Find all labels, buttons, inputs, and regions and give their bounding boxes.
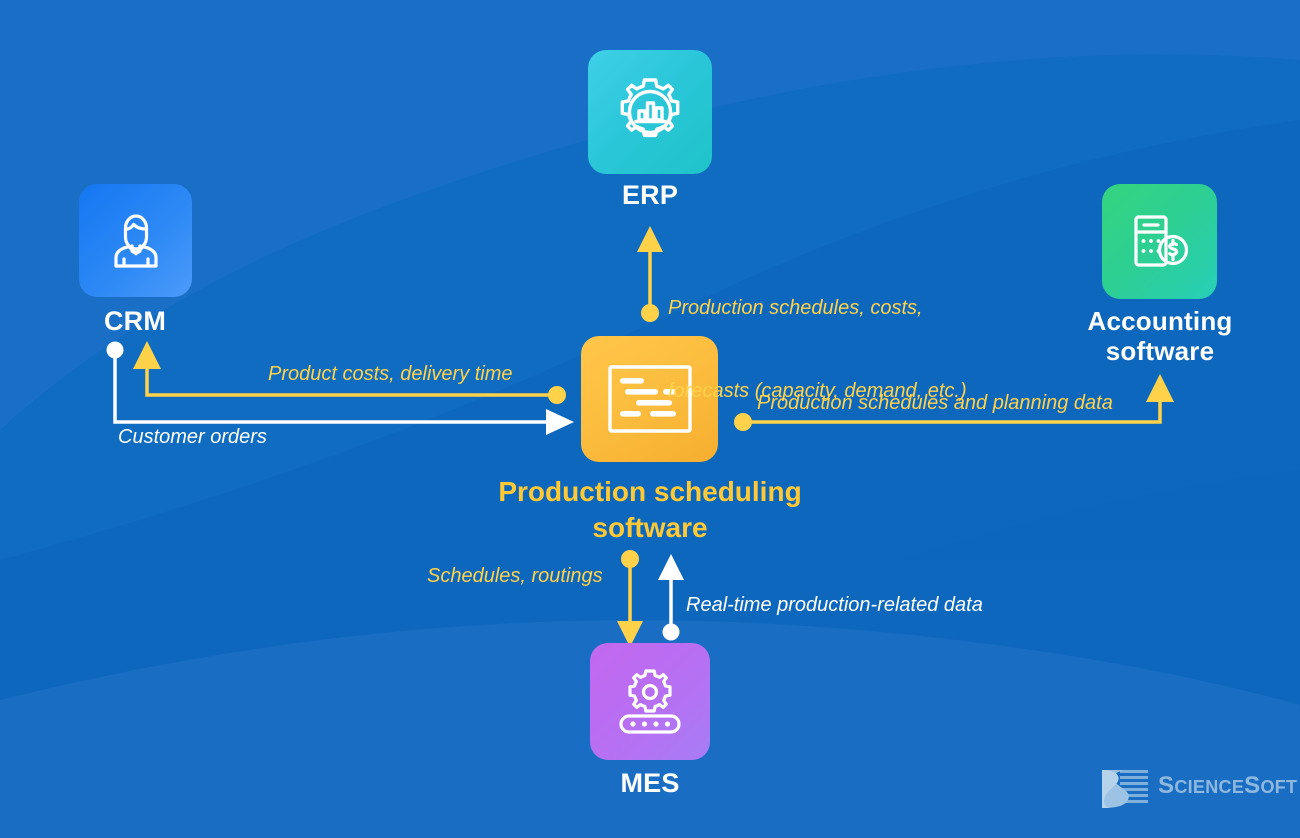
node-accounting-label: Accounting software [1050,306,1270,366]
gear-conveyor-icon [613,666,687,738]
diagram-canvas: ERP CRM [0,0,1300,838]
node-crm-label: CRM [35,306,235,337]
logo-text-s1: S [1158,772,1174,799]
sciencesoft-logo: SCIENCESOFT [1098,766,1278,812]
node-accounting-label-line2: software [1050,336,1270,366]
node-mes-tile[interactable] [590,643,710,760]
connector-label-crm-to-prod: Customer orders [118,424,267,452]
node-erp-label: ERP [550,180,750,211]
connector-prod-to-mes [617,550,643,647]
sciencesoft-logo-text: SCIENCESOFT [1158,772,1297,800]
sciencesoft-logo-mark [1098,768,1152,810]
node-accounting-label-line1: Accounting [1050,306,1270,336]
logo-text-oft: OFT [1260,777,1297,797]
connector-prod-to-erp [637,226,663,322]
node-erp-tile[interactable] [588,50,712,174]
connector-label-prod-to-crm: Product costs, delivery time [268,361,513,389]
logo-text-s2: S [1244,772,1260,799]
logo-text-cience: CIENCE [1174,777,1244,797]
node-crm-tile[interactable] [79,184,192,297]
connector-label-mes-to-prod: Real-time production-related data [686,592,983,620]
gear-bar-chart-icon [613,75,687,149]
connector-label-prod-to-accounting: Production schedules and planning data [757,390,1113,418]
connector-label-prod-to-erp: Production schedules, costs, forecasts (… [668,240,967,461]
calculator-dollar-icon [1125,207,1195,277]
node-production-label-line1: Production scheduling [440,474,860,510]
node-production-label-line2: software [440,510,860,546]
node-accounting-tile[interactable] [1102,184,1217,299]
user-person-icon [103,208,169,274]
connector-label-prod-to-erp-line1: Production schedules, costs, [668,295,967,323]
connector-mes-to-prod [658,554,684,641]
node-mes-label: MES [550,768,750,799]
node-production-label: Production scheduling software [440,474,860,547]
connector-label-prod-to-mes: Schedules, routings [427,563,603,591]
